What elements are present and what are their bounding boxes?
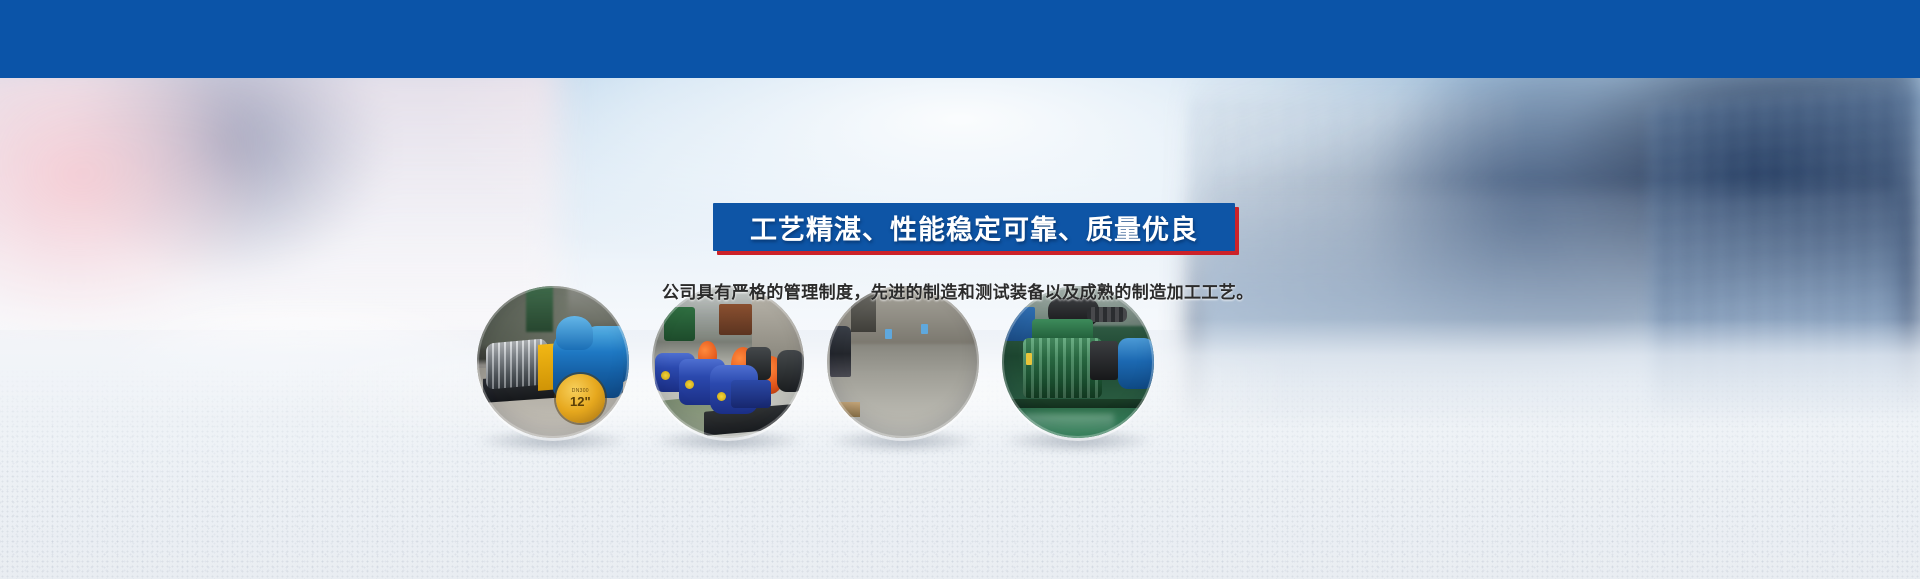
thumb1-pump-body [553,332,623,399]
thumb4-blue-pump [1118,338,1154,390]
thumb2-base-frame [731,380,771,407]
thumb1-floor [477,368,629,438]
thumb4-floor-reflection [1023,414,1114,435]
product-thumb-split-case-pump[interactable]: DN300 12" [477,286,629,438]
thumb4-diesel-engine-block [1023,338,1102,399]
thumb2-black-motor-1 [746,347,770,380]
thumb3-nameplate-2 [921,324,928,334]
thumb2-rust-equipment [719,304,752,334]
thumb1-motor-fins [486,338,547,389]
thumb2-orange-motor-2 [731,347,755,383]
thumb2-yellow-flange-1 [661,371,670,380]
thumb2-mounting-pad [704,404,792,436]
thumb1-volute [556,316,592,349]
thumb1-scene: DN300 12" [477,286,629,438]
thumb2-blue-pump-3 [710,365,759,414]
thumb4-engine-texture [1023,338,1102,399]
thumb1-coupling-guard [538,343,559,390]
thumb1-badge-size: 12" [570,395,591,408]
thumb4-black-housing [1090,341,1117,381]
thumb2-yellow-flange-3 [717,392,726,401]
thumb3-nameplate-1 [885,329,892,339]
thumb3-worker [830,326,851,378]
thumb2-blue-pump-2 [679,359,725,405]
top-navigation-bar[interactable] [0,0,1920,78]
thumb1-baseplate [483,369,623,403]
hero-headline-block: 工艺精湛、性能稳定可靠、质量优良 [713,203,1235,251]
thumb2-green-floor-stripe [652,395,722,438]
thumb1-background-green-panel [526,286,553,332]
thumb2-scene [652,286,804,438]
hero-subtitle-text: 公司具有严格的管理制度，先进的制造和测试装备以及成熟的制造加工工艺。 [662,278,1254,303]
thumb4-skid-base [1008,399,1148,414]
thumb4-cylinder-head [1032,319,1093,343]
thumb1-size-badge: DN300 12" [556,374,605,423]
thumb3-wooden-pallet [827,402,860,417]
thumb4-hose [1087,307,1127,322]
thumb2-yellow-flange-2 [685,380,694,389]
thumb1-motor [486,338,547,389]
product-thumb-slurry-pump-row[interactable] [652,286,804,438]
thumb2-orange-motor-3 [758,356,784,394]
product-thumb-diesel-engine-pump[interactable] [1002,286,1154,438]
hero-headline-text: 工艺精湛、性能稳定可靠、质量优良 [750,208,1198,247]
thumb3-floor [827,371,979,438]
thumb1-pump-body-rear [583,326,629,384]
hero-banner-stage: 工艺精湛、性能稳定可靠、质量优良 公司具有严格的管理制度，先进的制造和测试装备以… [0,0,1920,579]
thumb2-wall [752,295,804,359]
thumb2-green-equipment [664,307,694,340]
thumb2-black-motor-2 [777,350,804,393]
thumb2-orange-motor-1 [698,341,718,370]
product-thumb-vertical-inline-pump[interactable] [827,286,979,438]
thumb4-scene [1002,286,1154,438]
thumb4-yellow-marker [1026,353,1032,365]
thumb1-background-machinery [477,286,568,347]
thumb3-scene [827,286,979,438]
thumb2-blue-pump-1 [655,353,695,393]
headline-blue-box: 工艺精湛、性能稳定可靠、质量优良 [713,203,1235,251]
thumb4-blue-panel [1005,307,1035,340]
thumb1-badge-spec: DN300 [572,388,589,394]
